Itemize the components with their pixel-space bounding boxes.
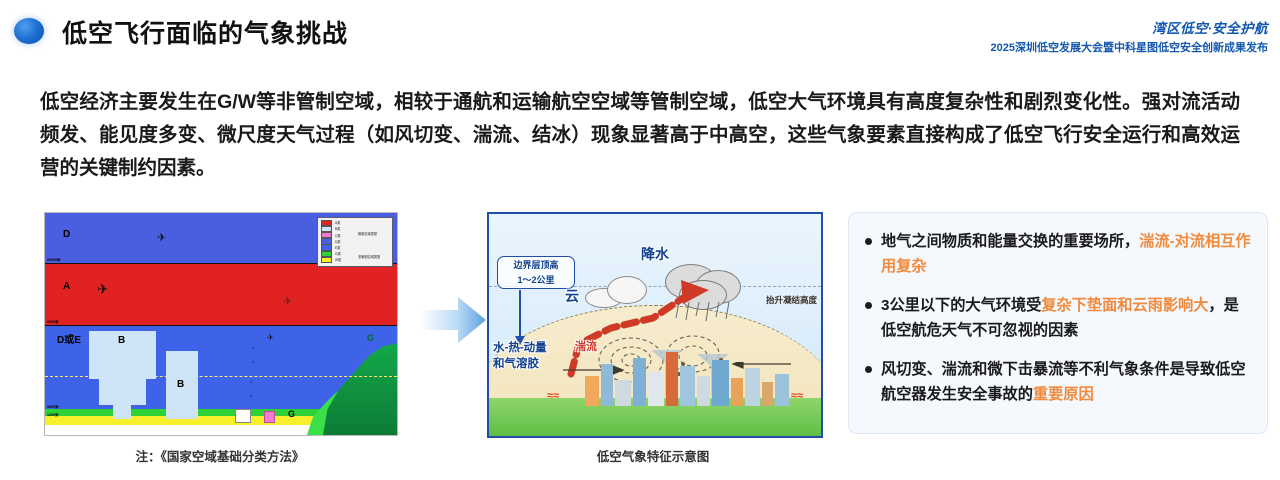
building [615,380,631,406]
boundary-layer-value: 1～2公里 [498,273,574,288]
heat-flux-icon-left: ≈≈ [547,390,559,402]
left-figure-caption: 注：《国家空域基础分类方法》 [44,446,396,465]
legend-item: A类 [321,220,389,226]
ctrl-zone-b1c [113,405,131,419]
building [601,364,613,406]
label-cloud: 云 [565,286,579,306]
aircraft-icon-mid: ✈ [97,281,109,298]
label-fluxes-line2: 和气溶胶 [493,358,539,370]
altitude-label-20000: 20000米 [47,258,61,263]
airport-box [235,409,251,423]
legend-swatch [321,257,332,263]
aircraft-icon-high: ✈ [157,231,166,244]
legend-item: D类 [321,239,389,245]
legend-label: G类 [335,251,341,256]
label-fluxes-line1: 水-热-动量 [493,342,547,354]
building [731,378,743,406]
building [633,358,646,406]
brand-sub-text: 2025深圳低空发展大会暨中科星图低空安全创新成果发布 [991,39,1268,55]
band-letter-de: D或E [57,331,81,346]
airspace-legend: A类 B类 C类 D类 E类 G类 W类 管制空域类型 非管制空域类型 [317,217,393,267]
bullet-text-pre: 地气之间物质和能量交换的重要场所， [881,233,1139,250]
bullet-text-highlight: 重要原因 [1033,386,1094,403]
altitude-label-1200: 1200米 [47,413,59,418]
aircraft-icon-jet: ✈ [283,295,292,308]
legend-label: D类 [335,239,341,244]
legend-item: E类 [321,245,389,251]
band-letter-a: A [63,281,70,292]
bullet-text-pre: 3公里以下的大气环境受 [881,297,1041,314]
boundary-layer-label: 边界层顶高 [498,258,574,273]
low-altitude-weather-figure: ≈≈ ≈≈ 边界层顶高 1～2公里 降水 云 抬升凝结高度 湍流 水-热-动量 … [487,212,823,438]
uav-icon-4: ⊥ [249,393,253,399]
bullet-text: 风切变、湍流和微下击暴流等不利气象条件是导致低空航空器发生安全事故的重要原因 [881,357,1253,407]
label-precipitation: 降水 [641,244,669,264]
building [585,376,599,406]
right-arrow-icon [418,292,488,348]
legend-label: C类 [335,233,341,238]
ctrl-letter-b2: B [177,379,184,390]
building [745,368,760,406]
legend-label: A类 [335,220,340,225]
uav-icon-3: ⊥ [249,379,253,385]
altitude-label-6000: 6000米 [47,320,59,325]
blue-dot-icon [14,18,44,44]
ctrl-zone-b1b [99,379,146,405]
bullet-dot-icon [865,238,872,245]
legend-label: W类 [335,257,341,262]
bullet-text: 3公里以下的大气环境受复杂下垫面和云雨影响大，是低空航危天气不可忽视的因素 [881,293,1253,343]
page-title: 低空飞行面临的气象挑战 [62,14,348,50]
ctrl-letter-b1: B [118,335,125,346]
altitude-label-3000: 3000米 [47,405,59,410]
building [697,376,710,406]
label-fluxes: 水-热-动量 和气溶胶 [493,340,547,372]
uav-icon-2: ⊥ [251,359,255,365]
slide-header: 低空飞行面临的气象挑战 湾区低空·安全护航 2025深圳低空发展大会暨中科星图低… [0,0,1280,62]
label-turbulence: 湍流 [575,338,597,354]
brand-block: 湾区低空·安全护航 2025深圳低空发展大会暨中科星图低空安全创新成果发布 [991,17,1268,55]
building [680,366,695,406]
building [762,382,773,406]
legend-group-uncontrolled: 非管制空域类型 [358,254,380,259]
middle-figure-caption: 低空气象特征示意图 [487,446,819,465]
building [666,352,678,406]
aircraft-icon-low1: ✈ [267,333,274,342]
bullet-item: 地气之间物质和能量交换的重要场所，湍流-对流相互作用复杂 [863,229,1253,279]
uav-icon-1: ⊥ [251,345,255,351]
legend-label: E类 [335,245,340,250]
heat-flux-icon-right: ≈≈ [791,390,803,402]
legend-label: B类 [335,226,340,231]
legend-item: B类 [321,226,389,232]
key-points-panel: 地气之间物质和能量交换的重要场所，湍流-对流相互作用复杂 3公里以下的大气环境受… [848,212,1268,434]
bullet-item: 风切变、湍流和微下击暴流等不利气象条件是导致低空航空器发生安全事故的重要原因 [863,357,1253,407]
building [775,374,789,406]
bullet-dot-icon [865,366,872,373]
bullet-item: 3公里以下的大气环境受复杂下垫面和云雨影响大，是低空航危天气不可忽视的因素 [863,293,1253,343]
legend-item: C类 [321,232,389,238]
bullet-text: 地气之间物质和能量交换的重要场所，湍流-对流相互作用复杂 [881,229,1253,279]
bullet-text-highlight: 复杂下垫面和云雨影响大 [1041,297,1208,314]
band-letter-d: D [63,229,70,240]
boundary-layer-callout: 边界层顶高 1～2公里 [497,256,575,289]
brand-main-text: 湾区低空·安全护航 [991,17,1268,37]
legend-group-controlled: 管制空域类型 [358,231,377,236]
building [712,360,729,406]
bullet-dot-icon [865,302,872,309]
class-c-box [264,411,275,423]
altitude-line-6000 [45,325,397,326]
building [648,372,664,406]
band-letter-g: G [288,409,295,419]
airspace-classification-figure: D A D或E G G 20000米 6000米 3000米 1200米 B B… [44,212,398,436]
boundary-layer-arrow-icon [519,290,521,338]
band-letter-g2: G [367,333,374,343]
body-paragraph: 低空经济主要发生在G/W等非管制空域，相较于通航和运输航空空域等管制空域，低空大… [40,86,1240,185]
label-lcl: 抬升凝结高度 [766,294,817,306]
